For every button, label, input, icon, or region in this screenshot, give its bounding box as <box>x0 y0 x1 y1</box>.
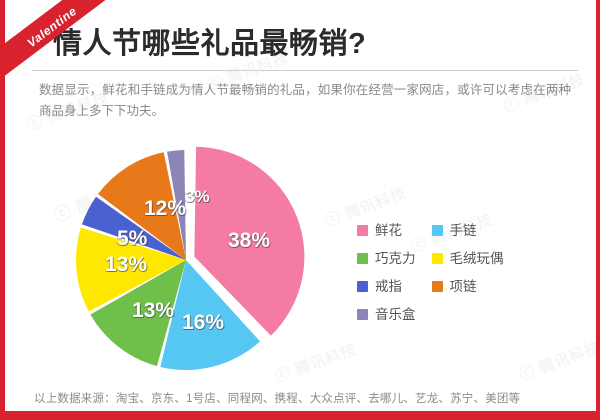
legend-swatch-icon <box>357 281 368 292</box>
chart-legend: 鲜花巧克力戒指音乐盒手链毛绒玩偶项链 <box>357 222 577 323</box>
legend-item-音乐盒[interactable]: 音乐盒 <box>357 306 416 323</box>
legend-swatch-icon <box>357 225 368 236</box>
header-divider <box>32 70 578 71</box>
legend-item-手链[interactable]: 手链 <box>432 222 504 239</box>
legend-item-label: 鲜花 <box>375 223 402 238</box>
legend-column-1: 手链毛绒玩偶项链 <box>432 222 504 323</box>
pie-chart: 38%16%13%13%5%12%3% <box>60 135 330 385</box>
source-note: 以上数据来源：淘宝、京东、1号店、同程网、携程、大众点评、去哪儿、艺龙、苏宁、美… <box>34 390 520 406</box>
legend-swatch-icon <box>357 253 368 264</box>
legend-item-巧克力[interactable]: 巧克力 <box>357 250 416 267</box>
legend-swatch-icon <box>432 281 443 292</box>
legend-item-鲜花[interactable]: 鲜花 <box>357 222 416 239</box>
legend-item-label: 巧克力 <box>375 251 416 266</box>
pie-chart-svg <box>60 135 330 385</box>
page-subtitle: 数据显示，鲜花和手链成为情人节最畅销的礼品，如果你在经营一家网店，或许可以考虑在… <box>39 80 571 122</box>
legend-item-项链[interactable]: 项链 <box>432 278 504 295</box>
legend-item-label: 手链 <box>450 223 477 238</box>
legend-column-0: 鲜花巧克力戒指音乐盒 <box>357 222 416 323</box>
legend-swatch-icon <box>357 309 368 320</box>
legend-item-label: 戒指 <box>375 279 402 294</box>
page-title: 情人节哪些礼品最畅销? <box>53 20 366 62</box>
legend-item-label: 毛绒玩偶 <box>450 251 504 266</box>
infographic-card: ⓒ 腾讯科技ⓒ 腾讯科技ⓒ 腾讯科技ⓒ 腾讯科技ⓒ 腾讯科技ⓒ 腾讯科技ⓒ 腾讯… <box>0 0 600 420</box>
legend-item-label: 音乐盒 <box>375 307 416 322</box>
legend-item-label: 项链 <box>450 279 477 294</box>
legend-swatch-icon <box>432 225 443 236</box>
legend-swatch-icon <box>432 253 443 264</box>
watermark-text: ⓒ 腾讯科技 <box>516 336 600 385</box>
legend-item-毛绒玩偶[interactable]: 毛绒玩偶 <box>432 250 504 267</box>
legend-item-戒指[interactable]: 戒指 <box>357 278 416 295</box>
